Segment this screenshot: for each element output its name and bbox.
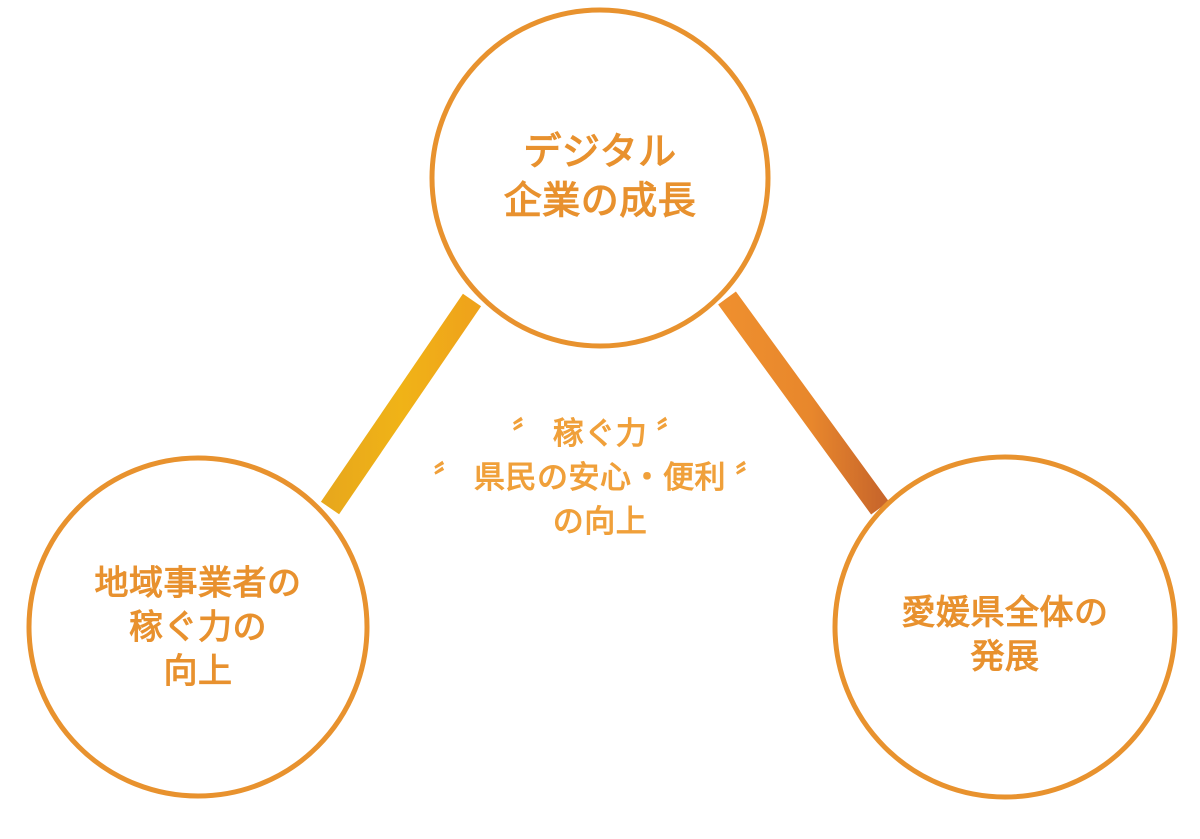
connector-group [330,298,880,646]
connector-top-to-right [727,298,880,508]
node-circle-group [29,10,1175,797]
connector-top-to-left [330,300,472,508]
node-circle-local-business-earning-power[interactable] [29,458,367,796]
node-circle-digital-company-growth[interactable] [432,10,768,346]
diagram-canvas: デジタル 企業の成長 地域事業者の 稼ぐ力の 向上 愛媛県全体の 発展 〞 稼ぐ… [0,0,1200,839]
triangle-diagram-graphic [0,0,1200,839]
node-circle-ehime-prefecture-development[interactable] [835,457,1175,797]
